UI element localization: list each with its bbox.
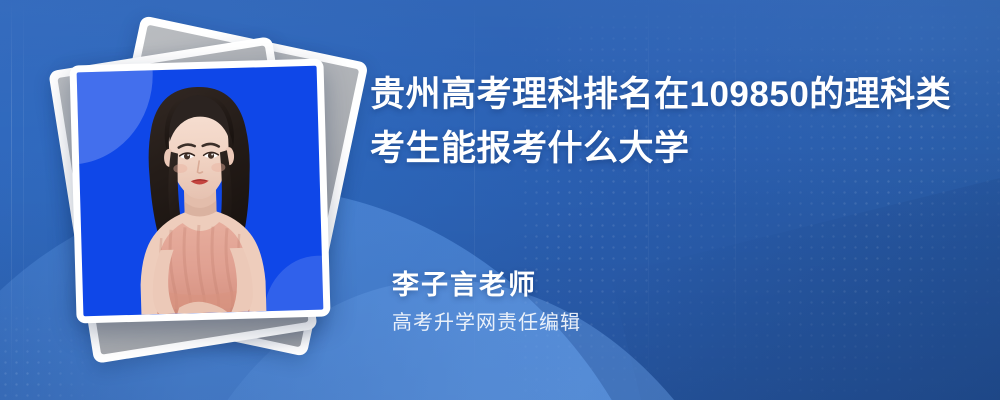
banner-content: 贵州高考理科排名在109850的理科类考生能报考什么大学 李子言老师 高考升学网…: [370, 0, 970, 400]
author-portrait-illustration: [77, 66, 324, 317]
author-byline: 李子言老师 高考升学网责任编辑: [392, 268, 581, 336]
article-cover-banner: 贵州高考理科排名在109850的理科类考生能报考什么大学 李子言老师 高考升学网…: [0, 0, 1000, 400]
decor-vertical-line: [11, 0, 12, 400]
author-role: 高考升学网责任编辑: [392, 310, 581, 336]
author-name: 李子言老师: [392, 268, 581, 302]
decor-vertical-line: [23, 0, 24, 400]
author-photo-card: [69, 59, 330, 324]
author-photo: [77, 66, 324, 317]
photo-card-stack: [62, 36, 342, 356]
article-headline: 贵州高考理科排名在109850的理科类考生能报考什么大学: [370, 68, 955, 176]
